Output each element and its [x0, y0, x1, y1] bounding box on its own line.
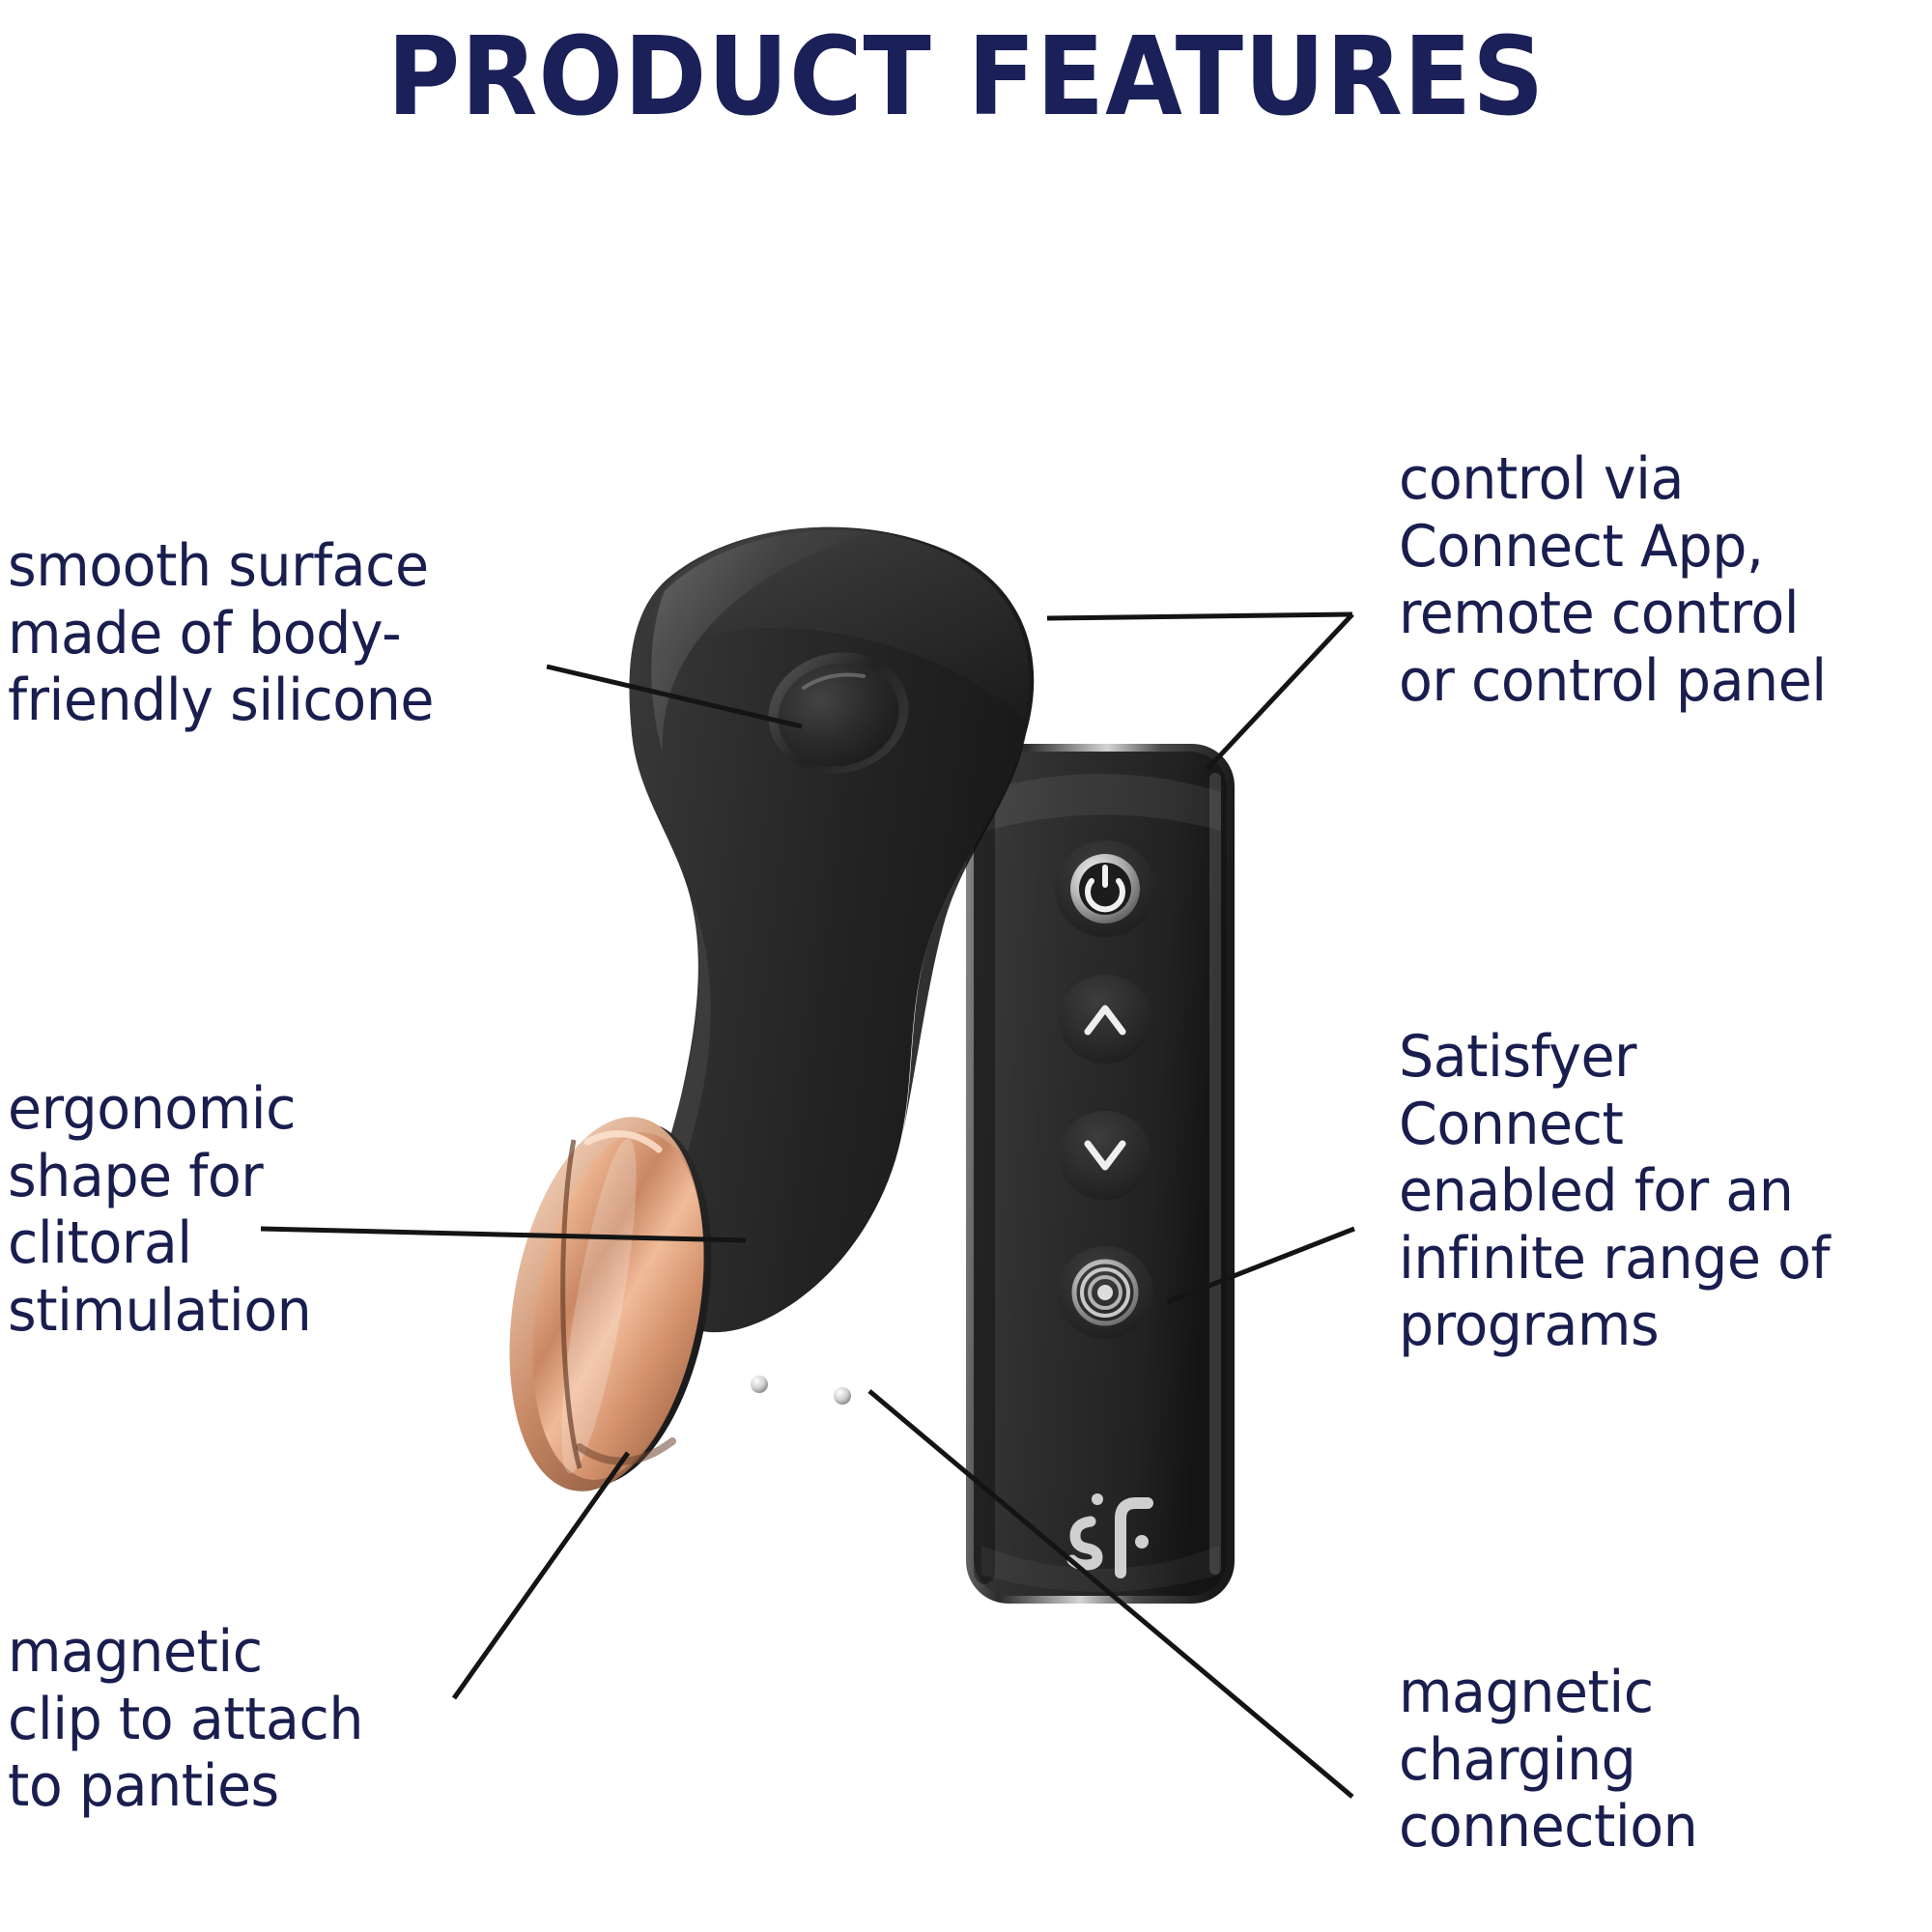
- target-button[interactable]: [1057, 1246, 1153, 1339]
- vibrator-oval-recess: [756, 639, 921, 787]
- clip-top-specular: [587, 1134, 659, 1150]
- vibrator-upper-lobe: [648, 528, 1029, 719]
- leader-line-control-app-b: [1207, 614, 1352, 769]
- callout-magnetic-clip: magnetic clip to attach to panties: [8, 1619, 485, 1821]
- vibrator-body: [629, 527, 1034, 1405]
- clip-face: [508, 1119, 729, 1493]
- satisfyer-logo: [1072, 1493, 1149, 1573]
- power-button[interactable]: [1055, 840, 1155, 937]
- oval-recess-highlight: [804, 675, 864, 689]
- power-button-ring: [1070, 854, 1140, 923]
- down-button-dish: [1059, 1111, 1151, 1200]
- remote-outer-edge: [966, 744, 1235, 1604]
- remote-right-highlight: [1209, 773, 1221, 1575]
- callout-smooth-surface: smooth surface made of body- friendly si…: [8, 533, 558, 735]
- remote-control: [966, 744, 1235, 1604]
- clip-bottom-shadow: [580, 1441, 672, 1462]
- callout-ergonomic-shape: ergonomic shape for clitoral stimulation: [8, 1076, 403, 1345]
- clip-seam: [563, 1140, 580, 1468]
- leader-line-smooth-surface: [547, 667, 802, 726]
- down-button[interactable]: [1059, 1111, 1151, 1200]
- remote-top-sheen: [980, 774, 1221, 833]
- clip-back-plate: [498, 1108, 737, 1500]
- power-icon: [1088, 867, 1122, 909]
- charging-pin-right: [834, 1387, 851, 1405]
- leader-line-control-app-a: [1047, 614, 1352, 618]
- page-title: PRODUCT FEATURES: [77, 21, 1855, 135]
- power-button-inner: [1079, 863, 1131, 915]
- callout-magnetic-charging: magnetic charging connection: [1399, 1660, 1858, 1861]
- vibrator-tail-sheen: [659, 898, 711, 1291]
- remote-face: [974, 752, 1227, 1596]
- up-button[interactable]: [1059, 975, 1151, 1064]
- remote-bottom-sheen: [981, 1546, 1219, 1592]
- leader-line-connect: [1167, 1229, 1354, 1302]
- vibrator-waist-shadow: [900, 734, 1026, 1146]
- target-button-dish: [1057, 1246, 1153, 1339]
- oval-recess-rim: [756, 639, 921, 787]
- vibrator-silhouette: [629, 527, 1034, 1333]
- power-button-dish: [1055, 840, 1155, 937]
- up-button-dish: [1059, 975, 1151, 1064]
- infographic-canvas: PRODUCT FEATURES: [0, 0, 1932, 1932]
- charging-pin-left: [751, 1376, 768, 1393]
- callout-satisfyer-connect: Satisfyer Connect enabled for an infinit…: [1399, 1024, 1922, 1360]
- clip-rim: [482, 1101, 730, 1506]
- vibrator-left-sheen: [651, 530, 869, 753]
- magnetic-clip: [482, 1101, 737, 1506]
- chevron-up-icon: [1088, 1009, 1122, 1032]
- callout-control-via-app: control via Connect App, remote control …: [1399, 446, 1913, 715]
- target-icon: [1074, 1262, 1136, 1323]
- clip-polish-band: [547, 1135, 651, 1478]
- leader-line-charging: [869, 1391, 1352, 1797]
- chevron-down-icon: [1088, 1144, 1122, 1167]
- remote-left-shadow: [974, 763, 995, 1584]
- charging-pins: [751, 1376, 851, 1405]
- oval-recess-inner: [768, 651, 910, 779]
